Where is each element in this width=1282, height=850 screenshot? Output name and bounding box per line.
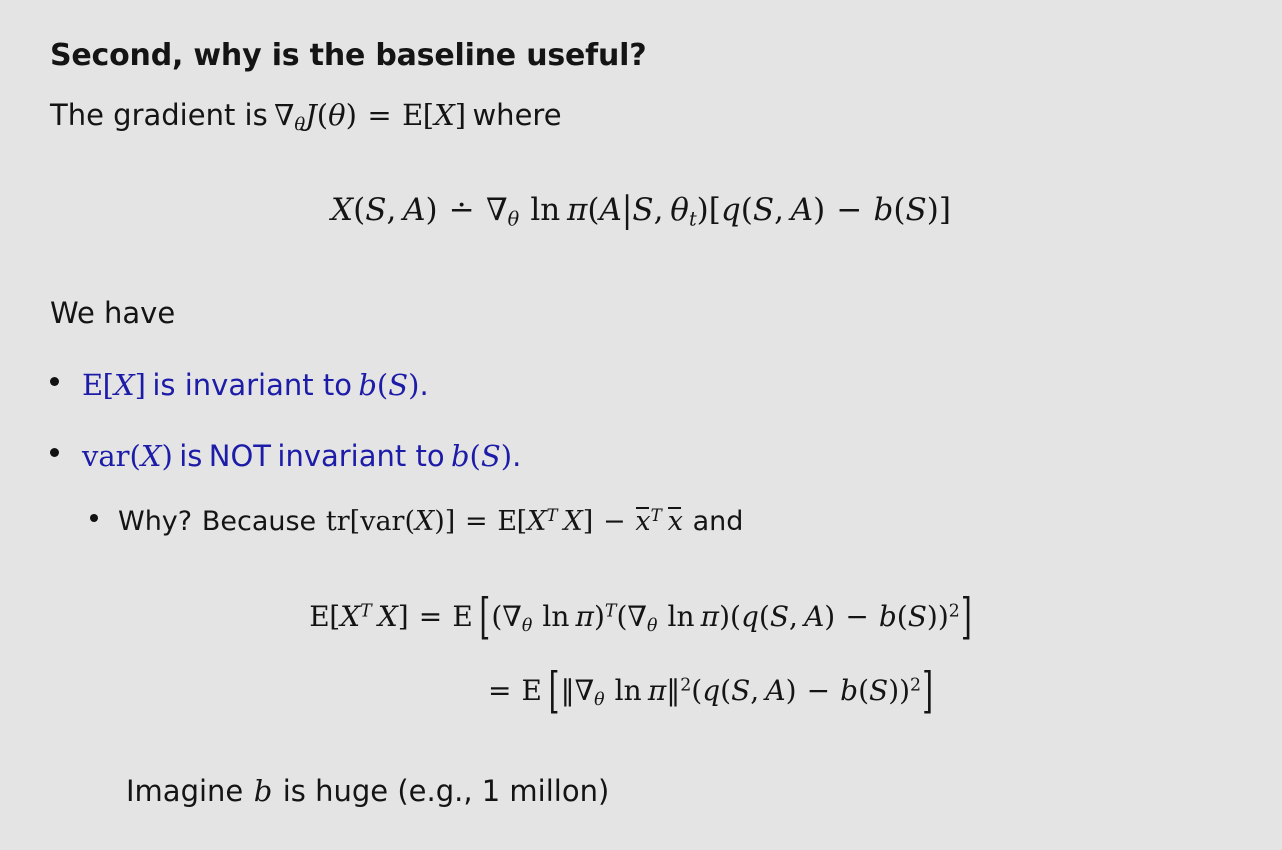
aligned-equation-line-1: E[XTX]=E[(∇θlnπ)T(∇θlnπ)(q(S,A)−b(S))2]: [0, 600, 1282, 636]
bullet-math-tail: b(S): [358, 368, 419, 402]
display-equation: X(S,A)∸∇θlnπ(A|S,θt)[q(S,A)−b(S)]: [0, 192, 1282, 230]
page-title: Second, why is the baseline useful?: [50, 38, 646, 73]
list-item: E[X]is invariant tob(S).: [50, 368, 429, 402]
sub-bullet-suffix: and: [693, 506, 744, 537]
aligned-equation-line-2: =E[‖∇θlnπ‖2(q(S,A)−b(S))2]: [0, 674, 1282, 710]
list-item: var(X)isNOTinvariant tob(S).: [50, 439, 521, 473]
closing-suffix: is huge (e.g., 1 millon): [283, 774, 610, 808]
sub-bullet-question: Why?: [118, 506, 192, 537]
sub-bullet-math: tr[var(X)]=E[XTX]−xTx: [326, 506, 683, 537]
bullet-prose-a: is: [179, 439, 202, 473]
bullet-marker-icon: [50, 448, 59, 457]
closing-prefix: Imagine: [126, 774, 243, 808]
lead-in-suffix: where: [472, 98, 561, 132]
bullet-prose: is invariant to: [152, 368, 352, 402]
bullet-terminator: .: [419, 368, 428, 402]
bullet-math-lead: E[X]: [82, 368, 146, 402]
sub-bullet-marker-icon: [90, 514, 98, 522]
bullet-prose-b: invariant to: [277, 439, 444, 473]
bullet-math-tail: b(S): [451, 439, 512, 473]
lead-in-line: The gradient is∇θJ(θ)=E[X]where: [50, 98, 562, 135]
closing-note: Imaginebis huge (e.g., 1 millon): [126, 774, 609, 808]
sub-bullet-prose: Because: [202, 506, 316, 537]
we-have-label: We have: [50, 296, 175, 330]
closing-symbol: b: [254, 774, 273, 808]
slide-canvas: Second, why is the baseline useful? The …: [0, 0, 1282, 850]
bullet-terminator: .: [512, 439, 521, 473]
lead-in-prefix: The gradient is: [50, 98, 268, 132]
bullet-math-lead: var(X): [82, 439, 173, 473]
bullet-marker-icon: [50, 377, 59, 386]
lead-in-math: ∇θJ(θ)=E[X]: [274, 98, 466, 132]
sub-list-item: Why?Becausetr[var(X)]=E[XTX]−xTxand: [90, 505, 743, 537]
bullet-emphasis: NOT: [209, 439, 271, 473]
